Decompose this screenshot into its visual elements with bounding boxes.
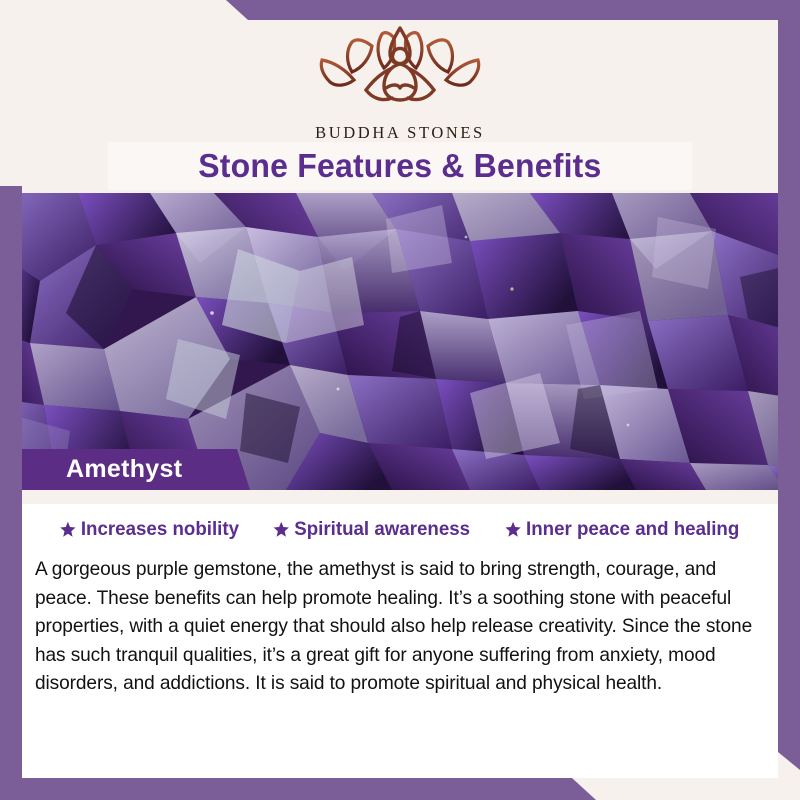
stone-details-card: Increases nobility Spiritual awareness I… bbox=[22, 504, 778, 778]
benefit-label: Spiritual awareness bbox=[294, 518, 470, 541]
lotus-meditation-figure-icon bbox=[0, 22, 800, 119]
poster-header: BUDDHA STONES Stone Features & Benefits bbox=[0, 0, 800, 193]
star-icon bbox=[505, 521, 521, 538]
benefit-item: Spiritual awareness bbox=[273, 518, 470, 541]
benefit-item: Increases nobility bbox=[60, 518, 239, 541]
brand-name: BUDDHA STONES bbox=[0, 123, 800, 143]
section-separator bbox=[22, 490, 778, 504]
stone-name-badge: Amethyst bbox=[22, 449, 250, 490]
stone-info-poster: BUDDHA STONES Stone Features & Benefits bbox=[0, 0, 800, 800]
benefit-label: Increases nobility bbox=[81, 518, 239, 541]
amethyst-photo bbox=[0, 193, 800, 490]
benefits-list: Increases nobility Spiritual awareness I… bbox=[22, 504, 778, 541]
stone-name-label: Amethyst bbox=[66, 455, 182, 484]
star-icon bbox=[60, 521, 76, 538]
benefit-item: Inner peace and healing bbox=[505, 518, 739, 541]
page-title: Stone Features & Benefits bbox=[198, 147, 601, 185]
benefit-label: Inner peace and healing bbox=[526, 518, 739, 541]
frame-border-right bbox=[778, 0, 800, 800]
stone-description: A gorgeous purple gemstone, the amethyst… bbox=[35, 555, 754, 698]
page-title-plate: Stone Features & Benefits bbox=[108, 142, 692, 190]
star-icon bbox=[273, 521, 289, 538]
frame-border-bottom bbox=[0, 778, 800, 800]
brand-logo: BUDDHA STONES bbox=[0, 22, 800, 143]
